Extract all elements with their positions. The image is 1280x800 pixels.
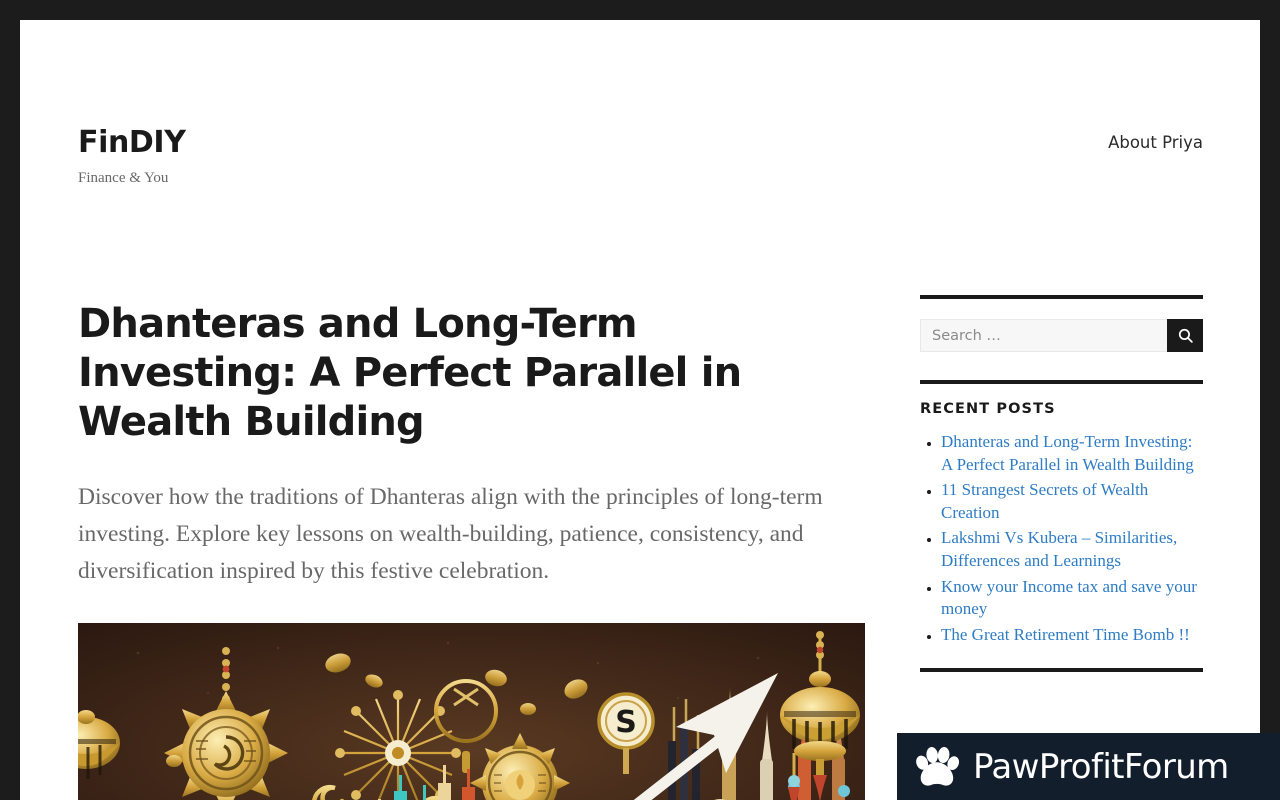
search-button[interactable] [1167, 319, 1203, 352]
list-item: Dhanteras and Long-Term Investing: A Per… [941, 431, 1203, 476]
site-header: FinDIY Finance & You About Priya [78, 125, 1203, 187]
site-branding: FinDIY Finance & You [78, 125, 186, 187]
site-tagline: Finance & You [78, 169, 186, 187]
watermark-overlay: PawProfitForum [897, 733, 1280, 800]
paw-icon [913, 745, 959, 789]
list-item: Lakshmi Vs Kubera – Similarities, Differ… [941, 527, 1203, 572]
watermark-text: PawProfitForum [973, 747, 1229, 787]
list-item: 11 Strangest Secrets of Wealth Creation [941, 479, 1203, 524]
browser-viewport: FinDIY Finance & You About Priya Dhanter… [0, 0, 1280, 800]
post-excerpt: Discover how the traditions of Dhanteras… [78, 479, 866, 589]
next-widget [920, 668, 1203, 672]
search-input[interactable] [920, 319, 1167, 352]
search-form [920, 319, 1203, 352]
search-icon [1177, 327, 1194, 344]
recent-post-link[interactable]: 11 Strangest Secrets of Wealth Creation [941, 480, 1148, 522]
main-content: Dhanteras and Long-Term Investing: A Per… [78, 300, 866, 800]
sidebar: Recent Posts Dhanteras and Long-Term Inv… [920, 295, 1203, 672]
recent-post-link[interactable]: Dhanteras and Long-Term Investing: A Per… [941, 432, 1194, 474]
recent-post-link[interactable]: The Great Retirement Time Bomb !! [941, 625, 1190, 644]
site-title[interactable]: FinDIY [78, 125, 186, 161]
recent-post-link[interactable]: Know your Income tax and save your money [941, 577, 1197, 619]
widget-divider [920, 295, 1203, 299]
search-widget [920, 295, 1203, 352]
recent-posts-title: Recent Posts [920, 401, 1203, 417]
widget-divider [920, 668, 1203, 672]
svg-text:S: S [615, 705, 637, 740]
recent-post-link[interactable]: Lakshmi Vs Kubera – Similarities, Differ… [941, 528, 1177, 570]
list-item: The Great Retirement Time Bomb !! [941, 624, 1203, 647]
list-item: Know your Income tax and save your money [941, 576, 1203, 621]
widget-divider [920, 380, 1203, 384]
post-title[interactable]: Dhanteras and Long-Term Investing: A Per… [78, 300, 866, 446]
nav-item-about-priya[interactable]: About Priya [1108, 133, 1203, 152]
recent-posts-widget: Recent Posts Dhanteras and Long-Term Inv… [920, 380, 1203, 646]
page-sheet: FinDIY Finance & You About Priya Dhanter… [20, 20, 1260, 800]
recent-posts-list: Dhanteras and Long-Term Investing: A Per… [920, 431, 1203, 646]
post-featured-image[interactable]: S [78, 623, 865, 800]
featured-image-artwork: S [78, 623, 865, 800]
primary-navigation: About Priya [1108, 133, 1203, 153]
